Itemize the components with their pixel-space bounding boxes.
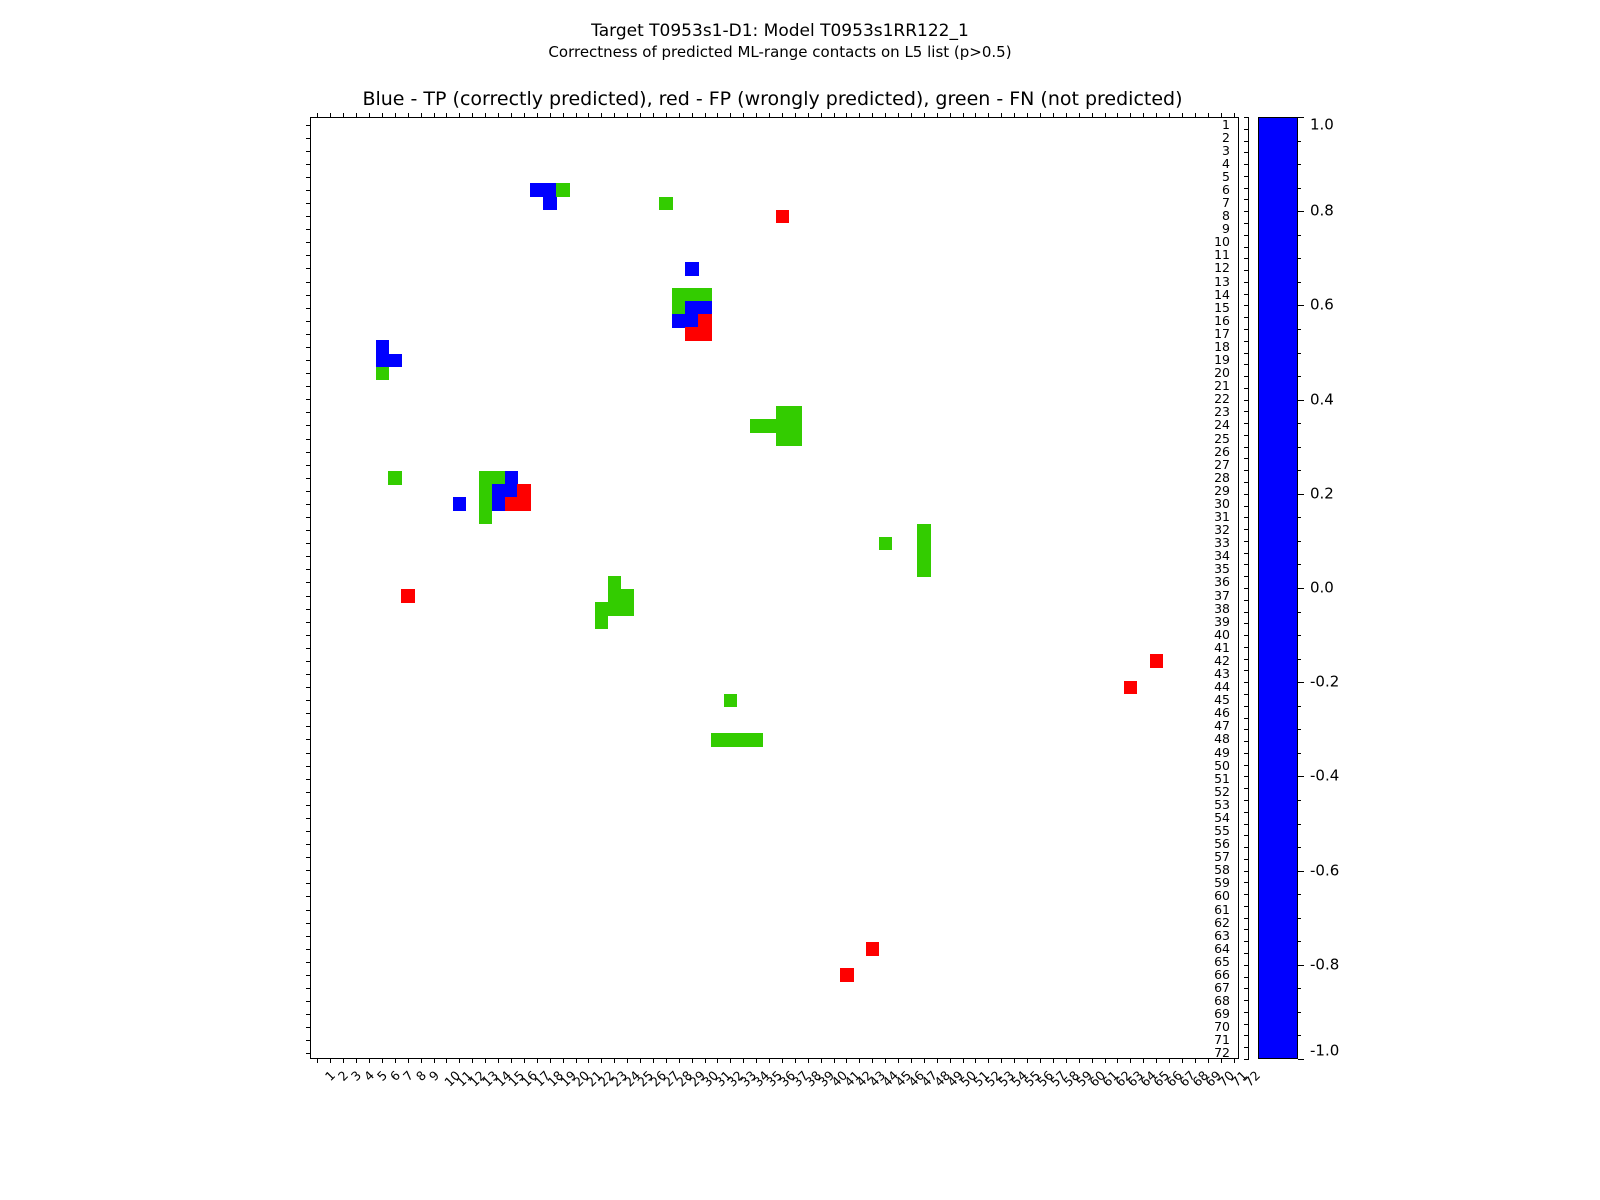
x-axis-tick-top xyxy=(859,113,860,118)
colorbar-gradient xyxy=(1258,117,1298,1059)
colorbar-spine-tick xyxy=(1244,576,1249,577)
y-axis-tick xyxy=(306,569,311,570)
x-axis-tick xyxy=(576,1058,577,1063)
contact-cell-fp xyxy=(401,589,415,603)
contact-cell-fn xyxy=(788,419,802,433)
y-axis-tick xyxy=(306,425,311,426)
contact-cell-fp xyxy=(1150,654,1164,668)
y-axis-tick xyxy=(306,151,311,152)
colorbar-minor-tick xyxy=(1298,141,1301,142)
x-axis-tick-top xyxy=(1221,113,1222,118)
colorbar-spine-tick xyxy=(1244,553,1249,554)
x-axis-tick-top xyxy=(1182,113,1183,118)
colorbar-spine-tick xyxy=(1244,211,1249,212)
colorbar-spine-tick xyxy=(1244,706,1249,707)
colorbar-minor-tick xyxy=(1298,824,1301,825)
contact-cell-fn xyxy=(917,524,931,538)
y-axis-tick xyxy=(306,739,311,740)
x-axis-tick-top xyxy=(885,113,886,118)
x-axis-tick-top xyxy=(834,113,835,118)
x-axis-tick-top xyxy=(1234,113,1235,118)
colorbar-spine-tick xyxy=(1244,941,1249,942)
x-axis-tick-top xyxy=(1092,113,1093,118)
x-axis-tick-top xyxy=(640,113,641,118)
x-axis-tick xyxy=(550,1058,551,1063)
colorbar-spine-tick xyxy=(1244,588,1249,589)
contact-cell-tp xyxy=(492,497,506,511)
colorbar-tick-label: 0.2 xyxy=(1310,486,1334,501)
colorbar-spine-tick xyxy=(1244,270,1249,271)
contact-map-plot: 1234567891011121314151617181920212223242… xyxy=(310,117,1239,1059)
colorbar-spine-tick xyxy=(1244,517,1249,518)
contact-cell-fp xyxy=(517,484,531,498)
y-axis-tick xyxy=(306,1040,311,1041)
y-axis-tick xyxy=(306,962,311,963)
x-axis-tick-top xyxy=(343,113,344,118)
colorbar-spine-tick xyxy=(1244,247,1249,248)
y-axis-tick xyxy=(306,622,311,623)
x-axis-tick-top xyxy=(459,113,460,118)
colorbar-minor-tick xyxy=(1298,659,1301,660)
colorbar-minor-tick xyxy=(1298,376,1301,377)
x-axis-tick-top xyxy=(356,113,357,118)
x-axis-tick-top xyxy=(717,113,718,118)
x-axis-tick-top xyxy=(769,113,770,118)
colorbar-spine-tick xyxy=(1244,317,1249,318)
colorbar-minor-tick xyxy=(1298,423,1301,424)
contact-cell-fp xyxy=(776,210,790,224)
colorbar-spine-tick xyxy=(1244,600,1249,601)
y-axis-tick xyxy=(306,543,311,544)
contact-cell-fn xyxy=(737,733,751,747)
contact-cell-fn xyxy=(621,602,635,616)
x-axis-tick xyxy=(950,1058,951,1063)
y-axis-tick xyxy=(306,753,311,754)
x-axis-tick xyxy=(717,1058,718,1063)
x-axis-tick-top xyxy=(1040,113,1041,118)
y-axis-tick xyxy=(306,216,311,217)
x-axis-tick-top xyxy=(614,113,615,118)
x-axis-tick xyxy=(472,1058,473,1063)
contact-cell-fn xyxy=(763,419,777,433)
y-axis-tick xyxy=(306,177,311,178)
x-axis-tick xyxy=(1053,1058,1054,1063)
colorbar-spine-tick xyxy=(1244,506,1249,507)
colorbar-spine-tick xyxy=(1244,423,1249,424)
colorbar-spine-tick xyxy=(1244,812,1249,813)
x-axis-tick-top xyxy=(950,113,951,118)
contact-cell-fn xyxy=(376,367,390,381)
contact-cell-tp xyxy=(530,183,544,197)
y-axis-tick xyxy=(306,831,311,832)
y-axis-tick xyxy=(306,700,311,701)
x-axis-tick-top xyxy=(421,113,422,118)
x-axis-tick-top xyxy=(1143,113,1144,118)
contact-cell-fn xyxy=(621,589,635,603)
colorbar-spine-tick xyxy=(1244,647,1249,648)
x-axis-tick xyxy=(653,1058,654,1063)
colorbar-spine-tick xyxy=(1244,859,1249,860)
page-subtitle: Correctness of predicted ML-range contac… xyxy=(0,42,1560,63)
y-axis-tick xyxy=(306,439,311,440)
colorbar-spine-tick xyxy=(1244,164,1249,165)
contact-cell-tp xyxy=(685,262,699,276)
colorbar-spine-tick xyxy=(1244,612,1249,613)
contact-cell-tp xyxy=(376,354,390,368)
x-axis-tick xyxy=(975,1058,976,1063)
x-axis-tick-top xyxy=(1169,113,1170,118)
x-axis-tick-top xyxy=(782,113,783,118)
colorbar-tick-label: -1.0 xyxy=(1310,1044,1339,1059)
contact-cell-tp xyxy=(685,301,699,315)
colorbar-spine-tick xyxy=(1244,199,1249,200)
x-axis-tick xyxy=(382,1058,383,1063)
y-axis-tick xyxy=(306,582,311,583)
y-axis-tick xyxy=(306,609,311,610)
colorbar-spine-tick xyxy=(1244,1035,1249,1036)
x-axis-tick xyxy=(808,1058,809,1063)
contact-cell-fn xyxy=(724,694,738,708)
colorbar-minor-tick xyxy=(1298,965,1301,966)
y-axis-tick xyxy=(306,321,311,322)
x-axis-tick-top xyxy=(730,113,731,118)
y-axis-tick xyxy=(306,1001,311,1002)
x-axis-tick xyxy=(627,1058,628,1063)
colorbar-spine-tick xyxy=(1244,188,1249,189)
colorbar-minor-tick xyxy=(1298,588,1301,589)
colorbar-minor-tick xyxy=(1298,753,1301,754)
y-axis-tick xyxy=(306,883,311,884)
y-axis-tick xyxy=(306,988,311,989)
x-axis-tick-top xyxy=(1156,113,1157,118)
contact-cell-fn xyxy=(556,183,570,197)
colorbar-minor-tick xyxy=(1298,941,1301,942)
colorbar-spine-tick xyxy=(1244,1000,1249,1001)
x-axis-tick-top xyxy=(808,113,809,118)
y-axis-tick xyxy=(306,125,311,126)
colorbar-minor-tick xyxy=(1298,918,1301,919)
colorbar-minor-tick xyxy=(1298,494,1301,495)
colorbar-spine-tick xyxy=(1244,564,1249,565)
contact-cell-fp xyxy=(866,942,880,956)
x-axis-tick-top xyxy=(911,113,912,118)
y-axis-tick xyxy=(306,452,311,453)
colorbar-minor-tick xyxy=(1298,706,1301,707)
colorbar-tick-label: -0.2 xyxy=(1310,675,1339,690)
contact-cell-tp xyxy=(672,314,686,328)
x-axis-tick xyxy=(834,1058,835,1063)
x-axis-tick-top xyxy=(408,113,409,118)
colorbar-spine-tick xyxy=(1244,305,1249,306)
colorbar-minor-tick xyxy=(1298,776,1301,777)
contact-cell-fp xyxy=(698,314,712,328)
colorbar-spine-tick xyxy=(1244,871,1249,872)
contact-cell-fn xyxy=(492,471,506,485)
chart-title-block: Target T0953s1-D1: Model T0953s1RR122_1 … xyxy=(0,20,1560,63)
colorbar-minor-tick xyxy=(1298,988,1301,989)
x-axis-tick xyxy=(1040,1058,1041,1063)
colorbar-minor-tick xyxy=(1298,305,1301,306)
contact-map-cells xyxy=(311,118,1238,1058)
x-axis-tick xyxy=(730,1058,731,1063)
y-axis-tick xyxy=(306,870,311,871)
x-axis-tick xyxy=(459,1058,460,1063)
y-axis-tick xyxy=(306,556,311,557)
colorbar-spine-tick xyxy=(1244,353,1249,354)
y-axis-tick xyxy=(306,308,311,309)
x-axis-tick-top xyxy=(1053,113,1054,118)
x-axis-tick-top xyxy=(1066,113,1067,118)
x-axis-tick xyxy=(924,1058,925,1063)
contact-cell-fp xyxy=(685,327,699,341)
colorbar-spine-tick xyxy=(1244,894,1249,895)
x-axis-tick-top xyxy=(511,113,512,118)
colorbar-minor-tick xyxy=(1298,847,1301,848)
contact-cell-fn xyxy=(479,484,493,498)
x-axis-tick xyxy=(692,1058,693,1063)
x-axis-tick xyxy=(446,1058,447,1063)
contact-cell-fn xyxy=(608,602,622,616)
colorbar-minor-tick xyxy=(1298,117,1301,118)
colorbar-spine-tick xyxy=(1244,541,1249,542)
colorbar-spine-tick xyxy=(1244,847,1249,848)
colorbar-spine-tick xyxy=(1244,882,1249,883)
x-axis-tick xyxy=(666,1058,667,1063)
x-axis-tick xyxy=(330,1058,331,1063)
colorbar-spine-tick xyxy=(1244,977,1249,978)
colorbar-spine-tick xyxy=(1244,376,1249,377)
contact-cell-fn xyxy=(595,602,609,616)
x-axis-tick-top xyxy=(395,113,396,118)
colorbar-spine-tick xyxy=(1244,765,1249,766)
x-axis-tick xyxy=(1208,1058,1209,1063)
y-axis-tick xyxy=(306,975,311,976)
x-axis-tick-top xyxy=(434,113,435,118)
colorbar-spine-tick xyxy=(1244,258,1249,259)
x-axis-tick-top xyxy=(550,113,551,118)
contact-cell-fp xyxy=(517,497,531,511)
x-axis-tick-top xyxy=(1130,113,1131,118)
x-axis-tick xyxy=(601,1058,602,1063)
colorbar-spine-tick xyxy=(1244,835,1249,836)
x-axis-tick-label: 9 xyxy=(427,1069,441,1083)
contact-cell-fn xyxy=(788,432,802,446)
colorbar-minor-tick xyxy=(1298,729,1301,730)
x-axis-tick xyxy=(705,1058,706,1063)
x-axis-tick xyxy=(859,1058,860,1063)
colorbar-minor-tick xyxy=(1298,517,1301,518)
x-axis-tick xyxy=(498,1058,499,1063)
contact-cell-tp xyxy=(388,354,402,368)
colorbar-spine-tick xyxy=(1244,741,1249,742)
contact-cell-fp xyxy=(840,968,854,982)
colorbar-spine-tick xyxy=(1244,682,1249,683)
x-axis-tick-top xyxy=(1208,113,1209,118)
x-axis-tick-top xyxy=(382,113,383,118)
y-axis-tick xyxy=(306,517,311,518)
contact-cell-fp xyxy=(698,327,712,341)
page-title: Target T0953s1-D1: Model T0953s1RR122_1 xyxy=(0,20,1560,42)
x-axis-tick xyxy=(1143,1058,1144,1063)
x-axis-tick-top xyxy=(666,113,667,118)
x-axis-tick-top xyxy=(705,113,706,118)
x-axis-tick-top xyxy=(821,113,822,118)
contact-cell-fn xyxy=(776,406,790,420)
x-axis-tick xyxy=(563,1058,564,1063)
y-axis-tick xyxy=(306,661,311,662)
y-axis-tick xyxy=(306,766,311,767)
contact-cell-fn xyxy=(388,471,402,485)
colorbar-spine-tick xyxy=(1244,1059,1249,1060)
colorbar-spine-tick xyxy=(1244,294,1249,295)
y-axis-tick xyxy=(306,805,311,806)
x-axis-tick xyxy=(821,1058,822,1063)
y-axis-tick xyxy=(306,779,311,780)
y-axis-tick xyxy=(306,936,311,937)
legend-caption: Blue - TP (correctly predicted), red - F… xyxy=(0,88,1545,110)
x-axis-tick-top xyxy=(937,113,938,118)
x-axis-tick xyxy=(1079,1058,1080,1063)
colorbar-spine-tick xyxy=(1244,824,1249,825)
colorbar-spine-tick xyxy=(1244,129,1249,130)
colorbar-spine-tick xyxy=(1244,718,1249,719)
x-axis-tick-top xyxy=(537,113,538,118)
x-axis-tick-top xyxy=(679,113,680,118)
x-axis-tick-top xyxy=(963,113,964,118)
colorbar-minor-tick xyxy=(1298,564,1301,565)
x-axis-tick xyxy=(395,1058,396,1063)
y-axis-tick xyxy=(306,1014,311,1015)
contact-cell-fn xyxy=(917,563,931,577)
colorbar-minor-tick xyxy=(1298,800,1301,801)
x-axis-tick-top xyxy=(627,113,628,118)
y-axis-tick xyxy=(306,1027,311,1028)
contact-cell-fn xyxy=(698,288,712,302)
y-axis-tick xyxy=(306,465,311,466)
colorbar-minor-tick xyxy=(1298,447,1301,448)
contact-cell-fn xyxy=(788,406,802,420)
colorbar-spine-tick xyxy=(1244,965,1249,966)
contact-cell-tp xyxy=(543,197,557,211)
contact-cell-fn xyxy=(724,733,738,747)
colorbar-spine-tick xyxy=(1244,918,1249,919)
colorbar-minor-tick xyxy=(1298,1059,1301,1060)
colorbar-spine-tick xyxy=(1244,1047,1249,1048)
colorbar-spine-tick xyxy=(1244,753,1249,754)
y-axis-tick xyxy=(306,910,311,911)
contact-cell-fn xyxy=(608,576,622,590)
y-axis-tick xyxy=(306,504,311,505)
colorbar-spine-tick xyxy=(1244,1024,1249,1025)
contact-cell-fn xyxy=(750,419,764,433)
y-axis-tick xyxy=(306,334,311,335)
x-axis-tick xyxy=(434,1058,435,1063)
x-axis-tick-top xyxy=(1105,113,1106,118)
colorbar-minor-tick xyxy=(1298,329,1301,330)
contact-cell-fn xyxy=(479,471,493,485)
y-axis-tick xyxy=(306,242,311,243)
colorbar-minor-tick xyxy=(1298,682,1301,683)
colorbar-spine-tick xyxy=(1244,800,1249,801)
x-axis-tick xyxy=(872,1058,873,1063)
x-axis-tick-top xyxy=(1079,113,1080,118)
x-axis-tick xyxy=(1117,1058,1118,1063)
x-axis-tick xyxy=(963,1058,964,1063)
colorbar-tick-label: 0.4 xyxy=(1310,392,1334,407)
contact-cell-fn xyxy=(608,589,622,603)
x-axis-tick xyxy=(782,1058,783,1063)
x-axis-tick xyxy=(937,1058,938,1063)
y-axis-tick xyxy=(306,373,311,374)
colorbar-spine-tick xyxy=(1244,364,1249,365)
colorbar-spine-tick xyxy=(1244,988,1249,989)
x-axis-tick-top xyxy=(1014,113,1015,118)
colorbar-spine-tick xyxy=(1244,341,1249,342)
x-axis-tick-top xyxy=(446,113,447,118)
x-axis-tick xyxy=(511,1058,512,1063)
x-axis-tick xyxy=(1221,1058,1222,1063)
colorbar: 1.00.80.60.40.20.0-0.2-0.4-0.6-0.8-1.0 xyxy=(1258,117,1298,1059)
contact-cell-tp xyxy=(453,497,467,511)
colorbar-spine-tick xyxy=(1244,447,1249,448)
contact-cell-fn xyxy=(595,615,609,629)
colorbar-spine-stub xyxy=(1248,117,1249,1059)
colorbar-tick-label: -0.8 xyxy=(1310,957,1339,972)
x-axis-tick-label: 72 xyxy=(1242,1069,1262,1089)
x-axis-tick-top xyxy=(975,113,976,118)
x-axis-tick-top xyxy=(472,113,473,118)
colorbar-spine-tick xyxy=(1244,659,1249,660)
y-axis-tick xyxy=(306,949,311,950)
colorbar-spine-tick xyxy=(1244,117,1249,118)
x-axis-tick xyxy=(795,1058,796,1063)
colorbar-minor-tick xyxy=(1298,211,1301,212)
x-axis-tick xyxy=(1001,1058,1002,1063)
x-axis-tick-top xyxy=(317,113,318,118)
colorbar-tick-label: -0.6 xyxy=(1310,863,1339,878)
colorbar-minor-tick xyxy=(1298,894,1301,895)
colorbar-minor-tick xyxy=(1298,1012,1301,1013)
y-axis-tick xyxy=(306,596,311,597)
colorbar-tick-label: 1.0 xyxy=(1310,118,1334,133)
colorbar-spine-tick xyxy=(1244,400,1249,401)
x-axis-tick-top xyxy=(485,113,486,118)
x-axis-tick xyxy=(317,1058,318,1063)
y-axis-tick xyxy=(306,726,311,727)
contact-cell-tp xyxy=(492,484,506,498)
x-axis-tick xyxy=(1027,1058,1028,1063)
colorbar-spine-tick xyxy=(1244,529,1249,530)
y-axis-tick xyxy=(306,347,311,348)
y-axis-tick xyxy=(306,896,311,897)
colorbar-spine-tick xyxy=(1244,482,1249,483)
x-axis-tick xyxy=(421,1058,422,1063)
y-axis-tick xyxy=(306,386,311,387)
contact-cell-tp xyxy=(376,340,390,354)
colorbar-spine-tick xyxy=(1244,470,1249,471)
contact-cell-fn xyxy=(776,419,790,433)
colorbar-spine-tick xyxy=(1244,494,1249,495)
colorbar-spine-tick xyxy=(1244,388,1249,389)
colorbar-spine-tick xyxy=(1244,729,1249,730)
y-axis-tick xyxy=(306,203,311,204)
x-axis-tick-top xyxy=(563,113,564,118)
x-axis-tick xyxy=(1092,1058,1093,1063)
y-axis-tick xyxy=(306,412,311,413)
contact-cell-fn xyxy=(479,511,493,525)
x-axis-tick-top xyxy=(1027,113,1028,118)
x-axis-tick xyxy=(524,1058,525,1063)
